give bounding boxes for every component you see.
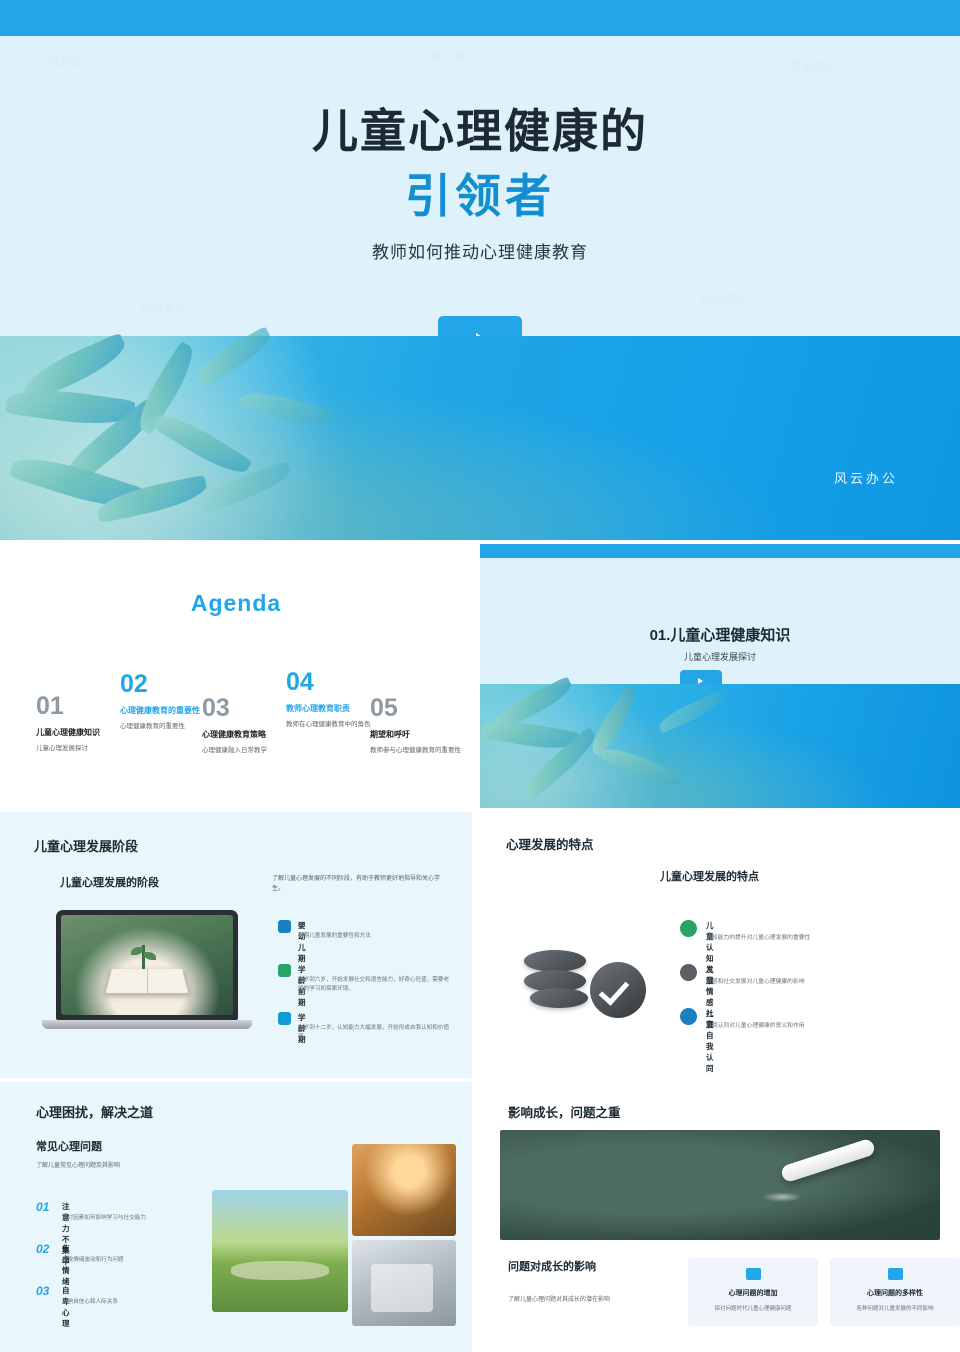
agenda-desc: 教师参与心理健康教育的重要性 (370, 744, 466, 754)
impact-subheader: 问题对成长的影响 (508, 1258, 596, 1274)
cover-title-line2: 引领者 (0, 160, 960, 226)
agenda-desc: 心理健康融入日常教学 (202, 744, 294, 754)
impact-card-title: 心理问题的增加 (688, 1288, 818, 1298)
stages-description: 了解儿童心理发展的不同阶段，有助于教师更好地指导和关心学生。 (272, 874, 440, 894)
brand-label: 风云办公 (834, 468, 898, 487)
stage-marker-icon (278, 920, 291, 933)
sprout-graphic (142, 945, 145, 969)
chalk-dust-graphic (762, 1192, 802, 1202)
impact-header: 影响成长，问题之重 (508, 1102, 621, 1121)
chart-icon (888, 1268, 903, 1280)
stage-desc: 六岁到十二岁，认知能力大幅发展，开始形成自我认知和价值观。 (298, 1024, 450, 1042)
stages-header: 儿童心理发展阶段 (34, 836, 138, 855)
stages-subheader: 儿童心理发展的阶段 (60, 874, 159, 890)
watermark-text: 风云办公 (790, 58, 838, 74)
agenda-item-5[interactable]: 05 期望和呼吁 教师参与心理健康教育的重要性 (370, 696, 466, 754)
coin-shape (524, 950, 586, 972)
chart-icon (746, 1268, 761, 1280)
watermark-text: 风云办公 (700, 290, 748, 306)
watermark-text: 风云办公 (48, 54, 96, 70)
chalk-on-blackboard-photo (500, 1130, 940, 1240)
feature-desc: 情感和社交发展对儿童心理健康的影响 (706, 976, 906, 985)
impact-card-title: 心理问题的多样性 (830, 1288, 960, 1298)
problem-number: 01 (36, 1200, 49, 1214)
chalk-graphic (780, 1138, 877, 1184)
agenda-number: 04 (286, 670, 382, 695)
impact-card-2: 心理问题的多样性 各种问题对儿童发展的不同影响 (830, 1258, 960, 1326)
stage-marker-icon (278, 1012, 291, 1025)
stage-desc: 三岁到六岁，开始发展社交和语言能力，好奇心旺盛，需要老师的学习和探索环境。 (298, 976, 450, 994)
features-subheader: 儿童心理发展的特点 (660, 868, 759, 884)
watermark-text: 风云办公 (430, 48, 478, 64)
presentation-preview: 风云办公 风云办公 风云办公 风云办公 风云办公 儿童心理健康的 引领者 教师如… (0, 0, 960, 1352)
check-circle-icon (590, 962, 646, 1018)
slide-stages: 儿童心理发展阶段 儿童心理发展的阶段 了解儿童心理发展的不同阶段，有助于教师更好… (0, 812, 472, 1078)
stage-title: 婴幼儿期 (298, 920, 306, 964)
impact-card-1: 心理问题的增加 探讨问题时代儿童心理健康问题 (688, 1258, 818, 1326)
watermark-text: 风云办公 (140, 300, 188, 316)
problems-subdesc: 了解儿童常见心理问题及其影响 (36, 1160, 120, 1169)
leaf-icon (680, 920, 697, 937)
problem-number: 03 (36, 1284, 49, 1298)
section-title: 01.儿童心理健康知识 (480, 624, 960, 645)
slide-section-divider: 01.儿童心理健康知识 儿童心理发展探讨 (480, 544, 960, 808)
feature-desc: 自我认同对儿童心理健康的意义和作用 (706, 1020, 906, 1029)
cover-top-bar (0, 0, 960, 36)
feature-desc: 认知能力的提升对儿童心理发展的重要性 (706, 932, 906, 941)
cover-title-line1: 儿童心理健康的 (0, 95, 960, 161)
problem-title: 自卑心理 (62, 1285, 70, 1329)
problem-desc: 导致情绪波动和行为问题 (62, 1255, 212, 1263)
people-icon (680, 964, 697, 981)
open-book-graphic (106, 969, 188, 993)
slide-features: 心理发展的特点 儿童心理发展的特点 儿童认知发展 认知能力的提升对儿童心理发展的… (480, 812, 960, 1078)
agenda-number: 05 (370, 696, 466, 721)
coins-check-graphic (520, 932, 650, 1012)
stage-desc: 早期儿童发展的重要性和方法 (298, 932, 450, 941)
section-top-bar (480, 544, 960, 558)
impact-note: 了解儿童心理问题对其成长的潜在影响 (508, 1294, 688, 1303)
laptop-screen (56, 910, 238, 1020)
problem-desc: 探讨因素如何影响学习与社交能力 (62, 1213, 212, 1221)
hands-warm-light-photo (352, 1144, 456, 1236)
slide-agenda: Agenda 01 儿童心理健康知识 儿童心理发展探讨 02 心理健康教育的重要… (0, 544, 472, 808)
section-plant-photo (480, 684, 960, 808)
children-reading-grass-photo (212, 1190, 348, 1312)
problem-desc: 影响自信心和人际关系 (62, 1297, 212, 1305)
agenda-item-4[interactable]: 04 教师心理教育职责 教师在心理健康教育中的角色 (286, 670, 382, 728)
laptop-book-photo (42, 910, 252, 1038)
agenda-title: 儿童心理健康知识 (36, 727, 128, 738)
agenda-desc: 教师在心理健康教育中的角色 (286, 718, 382, 728)
slide-impact: 影响成长，问题之重 问题对成长的影响 了解儿童心理问题对其成长的潜在影响 心理问… (480, 1082, 960, 1352)
impact-card-desc: 各种问题对儿童发展的不同影响 (838, 1304, 952, 1312)
stage-marker-icon (278, 964, 291, 977)
cover-subtitle: 教师如何推动心理健康教育 (0, 238, 960, 263)
coin-shape (530, 988, 588, 1008)
agenda-title: 教师心理教育职责 (286, 703, 382, 714)
agenda-title: 期望和呼吁 (370, 729, 466, 740)
section-subtitle: 儿童心理发展探讨 (480, 650, 960, 663)
student-writing-photo (352, 1240, 456, 1326)
mail-icon (680, 1008, 697, 1025)
problems-header: 心理困扰，解决之道 (36, 1102, 153, 1121)
agenda-number: 01 (36, 694, 128, 719)
laptop-base (42, 1020, 252, 1029)
agenda-title: 心理健康教育策略 (202, 729, 294, 740)
agenda-desc: 儿童心理发展探讨 (36, 742, 128, 752)
agenda-item-1[interactable]: 01 儿童心理健康知识 儿童心理发展探讨 (36, 694, 128, 752)
problem-title: 焦虑情绪 (62, 1243, 70, 1287)
agenda-item-3[interactable]: 03 心理健康教育策略 心理健康融入日常教学 (202, 696, 294, 754)
agenda-heading: Agenda (0, 590, 472, 617)
cover-plant-photo (0, 336, 960, 540)
feature-title: 儿童自我认同 (706, 1008, 714, 1074)
features-header: 心理发展的特点 (506, 834, 594, 853)
impact-card-desc: 探讨问题时代儿童心理健康问题 (696, 1304, 810, 1312)
problem-number: 02 (36, 1242, 49, 1256)
problems-subheader: 常见心理问题 (36, 1138, 102, 1154)
agenda-number: 03 (202, 696, 294, 721)
slide-cover: 风云办公 风云办公 风云办公 风云办公 风云办公 儿童心理健康的 引领者 教师如… (0, 0, 960, 540)
